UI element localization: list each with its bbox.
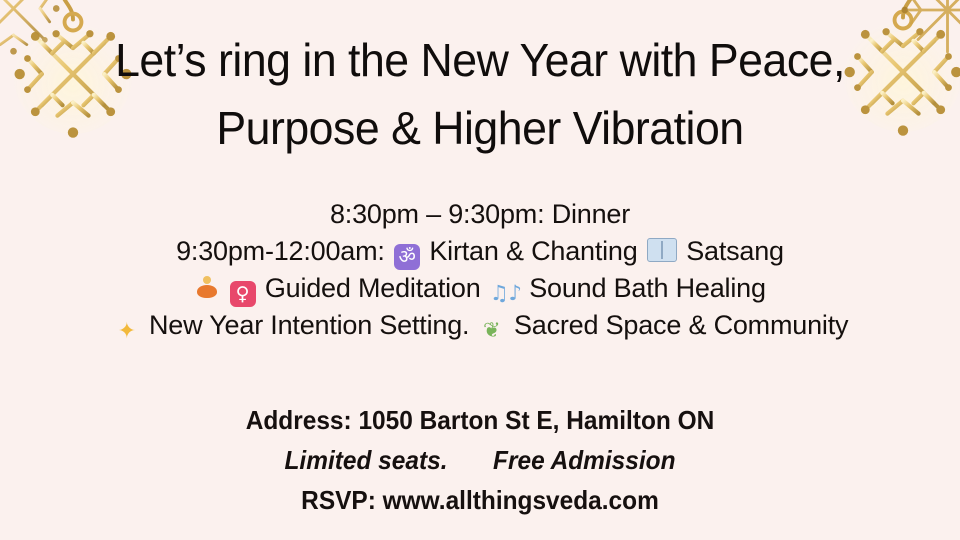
event-flyer: Let’s ring in the New Year with Peace, P… xyxy=(0,0,960,540)
address-line: Address: 1050 Barton St E, Hamilton ON xyxy=(29,400,931,440)
seats-admission-line: Limited seats. Free Admission xyxy=(29,440,931,480)
schedule-line-dinner: 8:30pm – 9:30pm: Dinner xyxy=(0,196,960,233)
open-book-icon xyxy=(647,238,677,262)
meditating-person-icon xyxy=(196,275,218,301)
schedule-block: 8:30pm – 9:30pm: Dinner 9:30pm-12:00am: … xyxy=(0,196,960,345)
herb-icon: ❦ xyxy=(479,317,505,343)
flyer-headline: Let’s ring in the New Year with Peace, P… xyxy=(14,26,945,162)
limited-seats-label: Limited seats. xyxy=(284,445,447,475)
headline-line-2: Purpose & Higher Vibration xyxy=(14,94,945,162)
schedule-kirtan-label: Kirtan & Chanting xyxy=(429,236,637,266)
details-block: Address: 1050 Barton St E, Hamilton ON L… xyxy=(29,400,931,520)
schedule-satsang-label: Satsang xyxy=(686,236,784,266)
om-icon: ॐ xyxy=(394,244,420,270)
schedule-community-label: Sacred Space & Community xyxy=(514,310,848,340)
free-admission-label: Free Admission xyxy=(493,445,675,475)
schedule-line-intention: ✦ New Year Intention Setting. ❦ Sacred S… xyxy=(0,307,960,345)
schedule-line-kirtan: 9:30pm-12:00am: ॐ Kirtan & Chanting Sats… xyxy=(0,233,960,270)
sparkles-icon: ✦ xyxy=(114,319,140,345)
female-sign-icon: ♀ xyxy=(230,281,256,307)
schedule-line-meditation: ♀ Guided Meditation ♫♪ Sound Bath Healin… xyxy=(0,270,960,307)
schedule-intention-label: New Year Intention Setting. xyxy=(149,310,469,340)
rsvp-line[interactable]: RSVP: www.allthingsveda.com xyxy=(29,480,931,520)
headline-line-1: Let’s ring in the New Year with Peace, xyxy=(14,26,945,94)
schedule-time-range: 9:30pm-12:00am: xyxy=(176,236,385,266)
schedule-soundbath-label: Sound Bath Healing xyxy=(529,273,766,303)
schedule-meditation-label: Guided Meditation xyxy=(265,273,481,303)
musical-notes-icon: ♫♪ xyxy=(490,281,520,305)
